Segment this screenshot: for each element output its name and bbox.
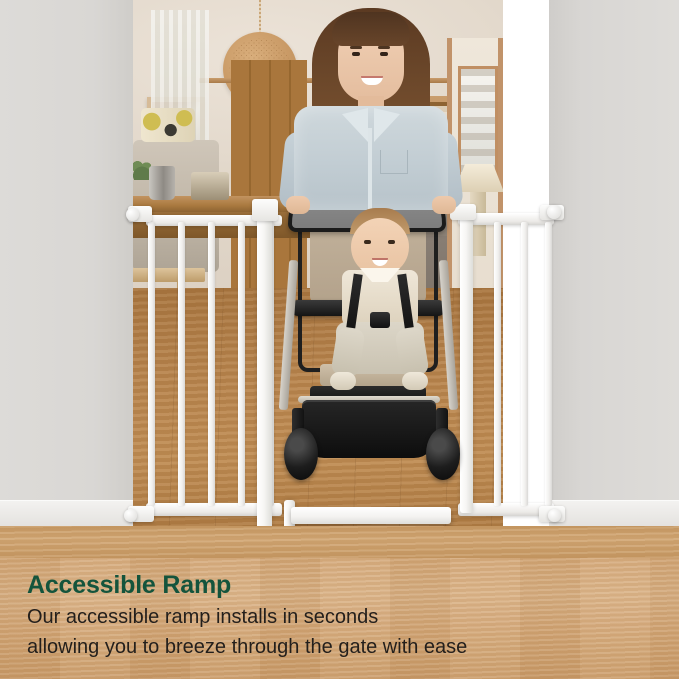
product-marketing-image: Accessible Ramp Our accessible ramp inst… xyxy=(0,0,679,679)
woman-eyebrow-right xyxy=(378,46,390,49)
caption-band: Accessible Ramp Our accessible ramp inst… xyxy=(0,558,679,679)
woman-shirt-pocket xyxy=(380,150,408,174)
lifestyle-photo xyxy=(0,0,679,558)
woman-hair-fringe xyxy=(332,12,410,46)
foreground-wood-floor xyxy=(0,526,679,558)
gate-right-top-adjuster-knob[interactable] xyxy=(547,205,561,219)
gate-bar xyxy=(494,222,501,506)
woman-eyebrow-left xyxy=(350,46,362,49)
stroller-wheel-front-right xyxy=(426,428,460,480)
gate-left-top-adjuster-knob[interactable] xyxy=(126,208,139,221)
gate-bar xyxy=(178,222,185,506)
gate-left-bottom-adjuster-knob[interactable] xyxy=(124,509,137,522)
baby-eye-right xyxy=(388,240,395,244)
caption-line-2: allowing you to breeze through the gate … xyxy=(27,637,467,657)
woman-shirt-placket xyxy=(368,128,372,210)
caption-heading: Accessible Ramp xyxy=(27,573,231,598)
baby-shoe-right xyxy=(402,372,428,390)
baby-shoe-left xyxy=(330,372,356,390)
gate-bar xyxy=(208,222,215,506)
stroller-wheel-front-left xyxy=(284,428,318,480)
stroller-frame-leg-left xyxy=(279,260,298,410)
woman-hand-left xyxy=(286,196,310,214)
gate-bar xyxy=(545,222,552,506)
woman-eye-left xyxy=(352,52,360,56)
stroller-storage-basket xyxy=(302,400,436,458)
gate-right-bottom-adjuster-knob[interactable] xyxy=(548,509,561,522)
baby-eye-left xyxy=(364,240,371,244)
caption-line-1: Our accessible ramp installs in seconds xyxy=(27,607,378,627)
gate-bar xyxy=(521,222,528,506)
baby-in-stroller xyxy=(320,208,440,393)
gate-bar xyxy=(238,222,245,506)
baby-face xyxy=(351,218,409,276)
woman-eye-right xyxy=(380,52,388,56)
smiling-woman xyxy=(276,0,466,210)
harness-buckle xyxy=(370,312,390,328)
gate-bar xyxy=(148,222,155,506)
stroller-frame-leg-right xyxy=(439,260,458,410)
